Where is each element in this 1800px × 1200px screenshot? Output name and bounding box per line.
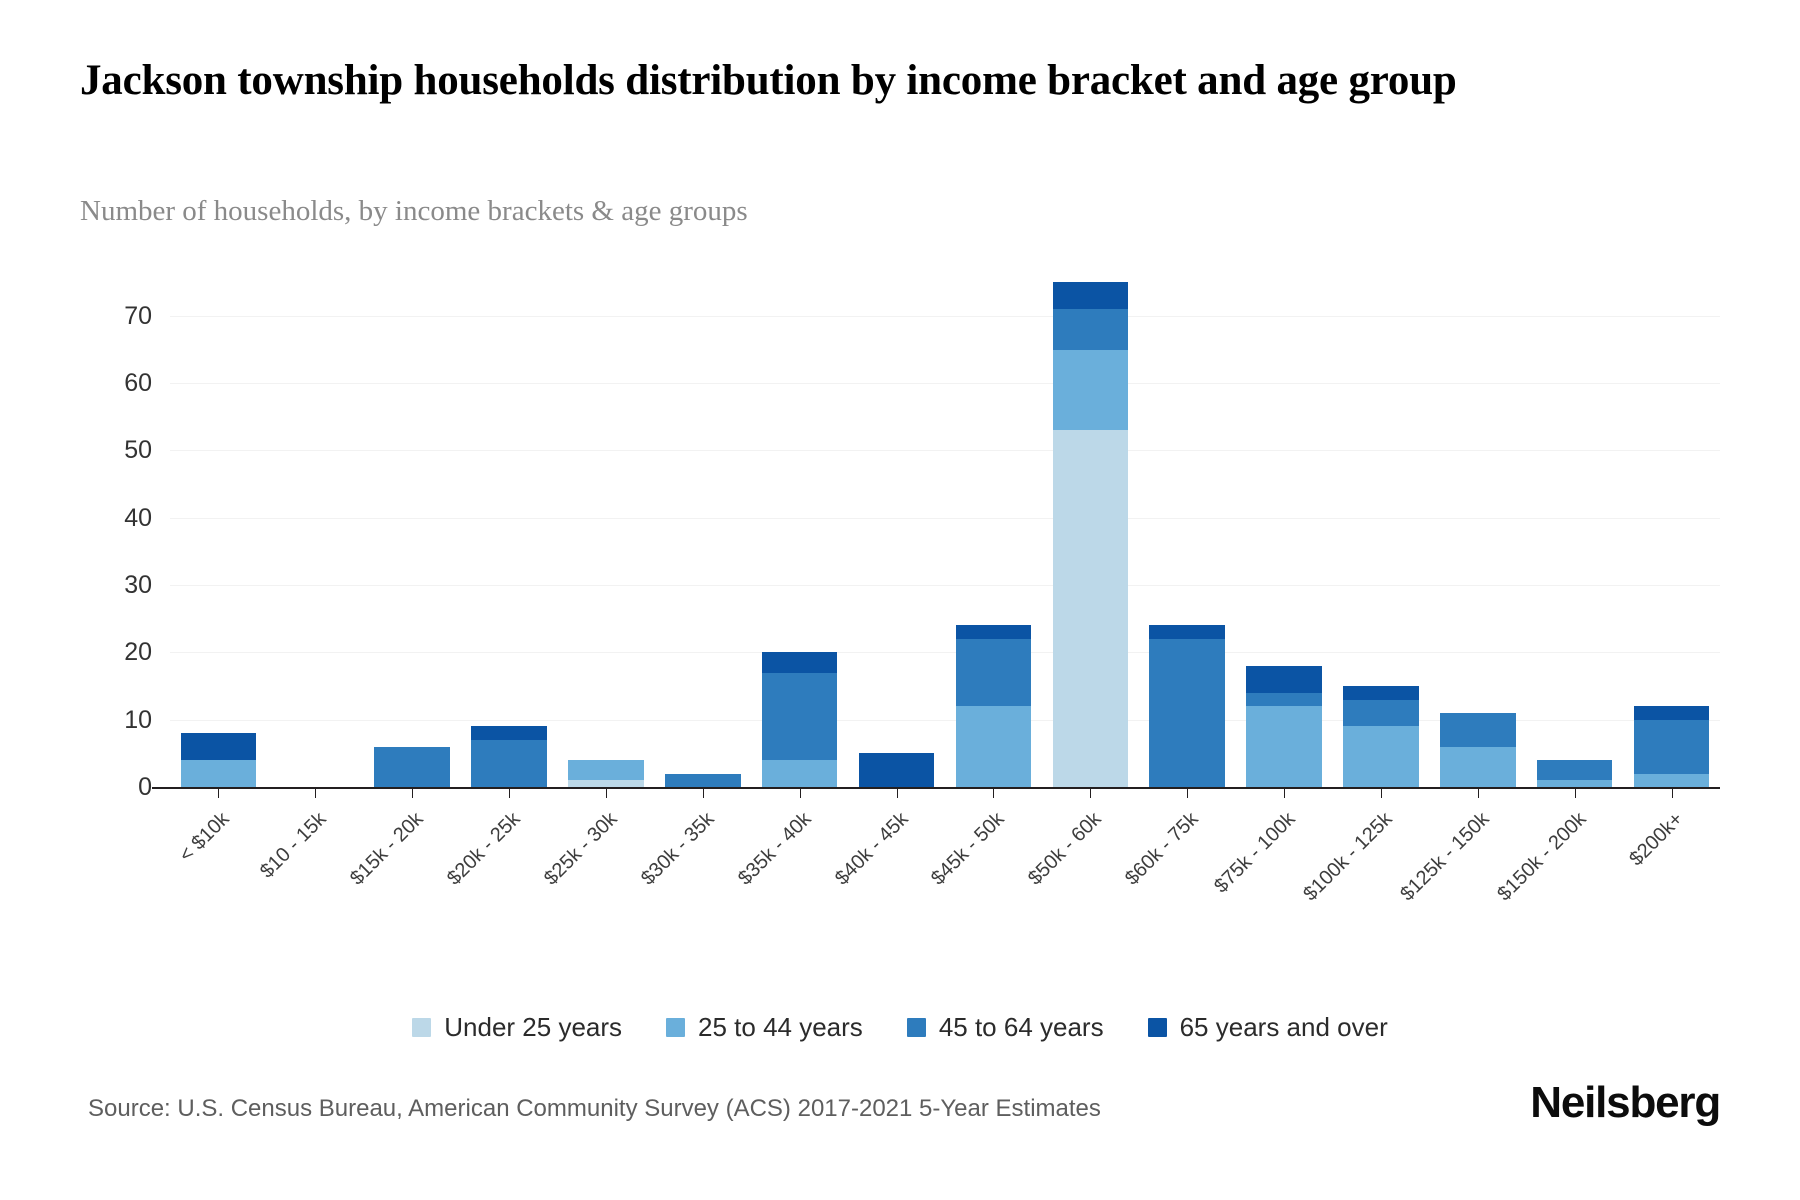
bar-segment[interactable]	[1053, 309, 1129, 349]
y-axis-tick-label: 60	[82, 369, 152, 398]
bar-segment[interactable]	[1246, 693, 1322, 706]
legend-item[interactable]: 25 to 44 years	[666, 1012, 863, 1043]
y-axis-tick-label: 10	[82, 706, 152, 735]
bar-group[interactable]	[1053, 282, 1129, 787]
x-axis-tick-label: $20k - 25k	[443, 808, 525, 890]
x-axis-tick-mark	[315, 789, 316, 798]
x-axis-tick-label: $35k - 40k	[734, 808, 816, 890]
x-axis-line	[152, 787, 1720, 789]
bar-series-container	[170, 262, 1720, 787]
bar-group[interactable]	[374, 747, 450, 787]
bar-segment[interactable]	[1343, 726, 1419, 787]
legend-item[interactable]: 45 to 64 years	[907, 1012, 1104, 1043]
x-axis-tick-mark	[1672, 789, 1673, 798]
bar-segment[interactable]	[181, 760, 257, 787]
bar-group[interactable]	[762, 652, 838, 787]
bar-group[interactable]	[1343, 686, 1419, 787]
legend-swatch-icon	[412, 1018, 431, 1037]
bar-group[interactable]	[1634, 706, 1710, 787]
x-axis-tick-mark	[1090, 789, 1091, 798]
bar-segment[interactable]	[1246, 706, 1322, 787]
y-axis-tick-label: 40	[82, 504, 152, 533]
x-axis-tick-label: $25k - 30k	[540, 808, 622, 890]
page-title: Jackson township households distribution…	[80, 55, 1720, 108]
legend-swatch-icon	[907, 1018, 926, 1037]
x-axis-tick-mark	[606, 789, 607, 798]
bar-group[interactable]	[181, 733, 257, 787]
bar-segment[interactable]	[471, 740, 547, 787]
x-axis-tick-mark	[1575, 789, 1576, 798]
legend-label: 65 years and over	[1180, 1012, 1388, 1043]
bar-group[interactable]	[859, 753, 935, 787]
x-axis-tick-label: $75k - 100k	[1210, 808, 1300, 898]
x-axis-tick-label: $40k - 45k	[831, 808, 913, 890]
legend-label: 45 to 64 years	[939, 1012, 1104, 1043]
bar-group[interactable]	[956, 625, 1032, 787]
x-axis-tick-mark	[509, 789, 510, 798]
y-axis-tick-label: 20	[82, 638, 152, 667]
x-axis-tick-mark	[800, 789, 801, 798]
plot-area: 010203040506070 < $10k$10 - 15k$15k - 20…	[170, 262, 1720, 787]
bar-segment[interactable]	[1053, 350, 1129, 431]
bar-segment[interactable]	[762, 760, 838, 787]
legend-swatch-icon	[1148, 1018, 1167, 1037]
bar-segment[interactable]	[1053, 282, 1129, 309]
bar-segment[interactable]	[859, 753, 935, 787]
bar-segment[interactable]	[1053, 430, 1129, 787]
bar-segment[interactable]	[956, 706, 1032, 787]
bar-segment[interactable]	[1634, 720, 1710, 774]
x-axis-tick-label: $200k+	[1625, 808, 1688, 871]
bar-segment[interactable]	[1149, 625, 1225, 638]
legend-item[interactable]: 65 years and over	[1148, 1012, 1388, 1043]
x-axis-tick-label: $100k - 125k	[1299, 808, 1397, 906]
x-axis-tick-mark	[703, 789, 704, 798]
y-axis-tick-label: 50	[82, 436, 152, 465]
legend-label: 25 to 44 years	[698, 1012, 863, 1043]
x-axis-tick-mark	[993, 789, 994, 798]
chart-legend: Under 25 years25 to 44 years45 to 64 yea…	[0, 1012, 1800, 1043]
bar-segment[interactable]	[374, 747, 450, 787]
x-axis-tick-label: $10 - 15k	[256, 808, 331, 883]
y-axis-tick-label: 0	[82, 773, 152, 802]
x-axis-tick-label: < $10k	[176, 808, 235, 867]
x-axis-tick-mark	[1381, 789, 1382, 798]
bar-segment[interactable]	[471, 726, 547, 739]
legend-item[interactable]: Under 25 years	[412, 1012, 622, 1043]
bar-group[interactable]	[665, 774, 741, 787]
bar-segment[interactable]	[1246, 666, 1322, 693]
bar-segment[interactable]	[1149, 639, 1225, 787]
bar-group[interactable]	[568, 760, 644, 787]
bar-group[interactable]	[1440, 713, 1516, 787]
source-note: Source: U.S. Census Bureau, American Com…	[88, 1095, 1101, 1123]
page-subtitle: Number of households, by income brackets…	[80, 195, 1580, 228]
bar-segment[interactable]	[568, 760, 644, 780]
x-axis-tick-label: $125k - 150k	[1396, 808, 1494, 906]
bar-group[interactable]	[1537, 760, 1613, 787]
brand-logo: Neilsberg	[1530, 1078, 1720, 1128]
x-axis-tick-label: $50k - 60k	[1024, 808, 1106, 890]
bar-segment[interactable]	[762, 673, 838, 761]
x-axis-tick-label: $15k - 20k	[346, 808, 428, 890]
bar-segment[interactable]	[568, 780, 644, 787]
bar-segment[interactable]	[1440, 713, 1516, 747]
bar-segment[interactable]	[181, 733, 257, 760]
bar-segment[interactable]	[1343, 686, 1419, 699]
bar-group[interactable]	[1246, 666, 1322, 787]
x-axis-tick-mark	[1284, 789, 1285, 798]
x-axis-tick-label: $60k - 75k	[1121, 808, 1203, 890]
legend-swatch-icon	[666, 1018, 685, 1037]
x-axis-tick-label: $150k - 200k	[1493, 808, 1591, 906]
x-axis-tick-mark	[1478, 789, 1479, 798]
y-axis-tick-label: 70	[82, 302, 152, 331]
bar-segment[interactable]	[1343, 700, 1419, 727]
bar-segment[interactable]	[956, 639, 1032, 706]
x-axis-tick-label: $45k - 50k	[927, 808, 1009, 890]
x-axis-tick-mark	[897, 789, 898, 798]
bar-segment[interactable]	[1537, 760, 1613, 780]
bar-segment[interactable]	[665, 774, 741, 787]
bar-group[interactable]	[1149, 625, 1225, 787]
x-axis-tick-label: $30k - 35k	[637, 808, 719, 890]
x-axis-tick-mark	[218, 789, 219, 798]
y-axis-tick-label: 30	[82, 571, 152, 600]
chart-page: Jackson township households distribution…	[0, 0, 1800, 1200]
bar-segment[interactable]	[1440, 747, 1516, 787]
bar-segment[interactable]	[1537, 780, 1613, 787]
bar-segment[interactable]	[956, 625, 1032, 638]
bar-segment[interactable]	[762, 652, 838, 672]
x-axis-tick-mark	[412, 789, 413, 798]
bar-segment[interactable]	[1634, 706, 1710, 719]
x-axis-tick-mark	[1187, 789, 1188, 798]
bar-segment[interactable]	[1634, 774, 1710, 787]
legend-label: Under 25 years	[444, 1012, 622, 1043]
bar-group[interactable]	[471, 726, 547, 787]
